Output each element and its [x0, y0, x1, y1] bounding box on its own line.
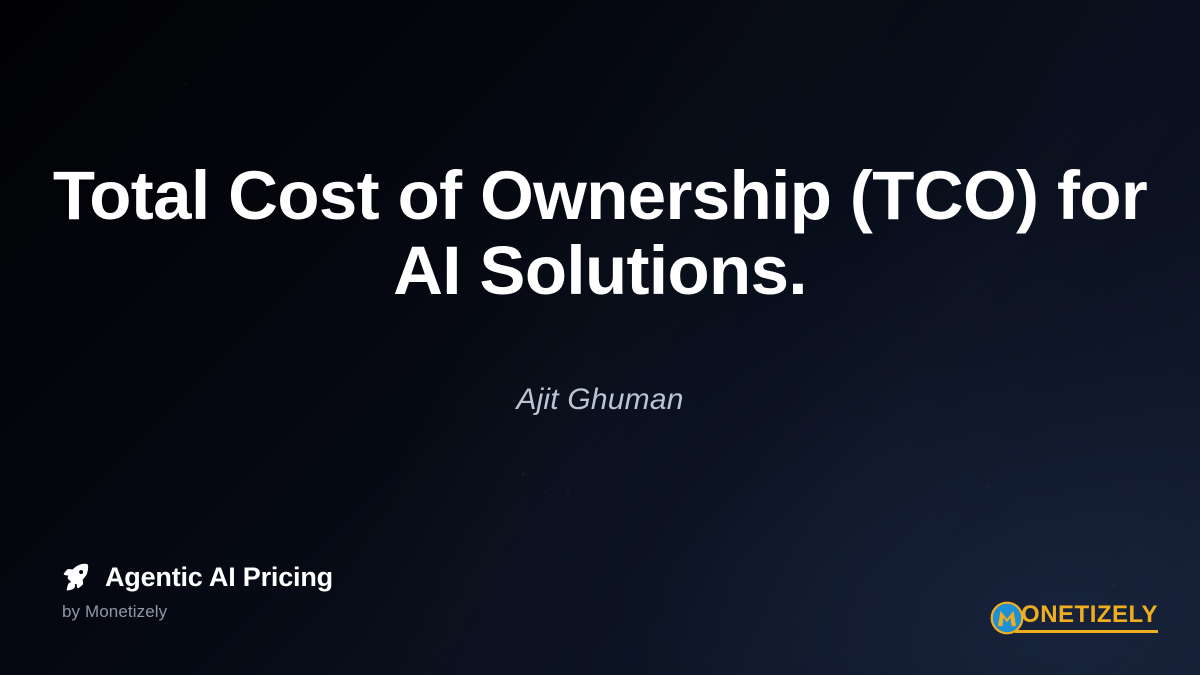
rocket-icon [62, 562, 92, 592]
monetizely-logo: ONETIZELY [990, 601, 1158, 635]
slide-canvas: Total Cost of Ownership (TCO) for AI Sol… [0, 0, 1200, 675]
brand-row: Agentic AI Pricing [62, 562, 333, 592]
brand-name: Agentic AI Pricing [105, 564, 333, 591]
page-title: Total Cost of Ownership (TCO) for AI Sol… [52, 158, 1148, 308]
brand-byline: by Monetizely [62, 602, 333, 622]
monetizely-wordmark: ONETIZELY [1021, 603, 1158, 633]
title-block: Total Cost of Ownership (TCO) for AI Sol… [0, 158, 1200, 308]
brand-lockup: Agentic AI Pricing by Monetizely [62, 562, 333, 622]
author-name: Ajit Ghuman [0, 383, 1200, 417]
monetizely-logo-icon [990, 601, 1024, 635]
